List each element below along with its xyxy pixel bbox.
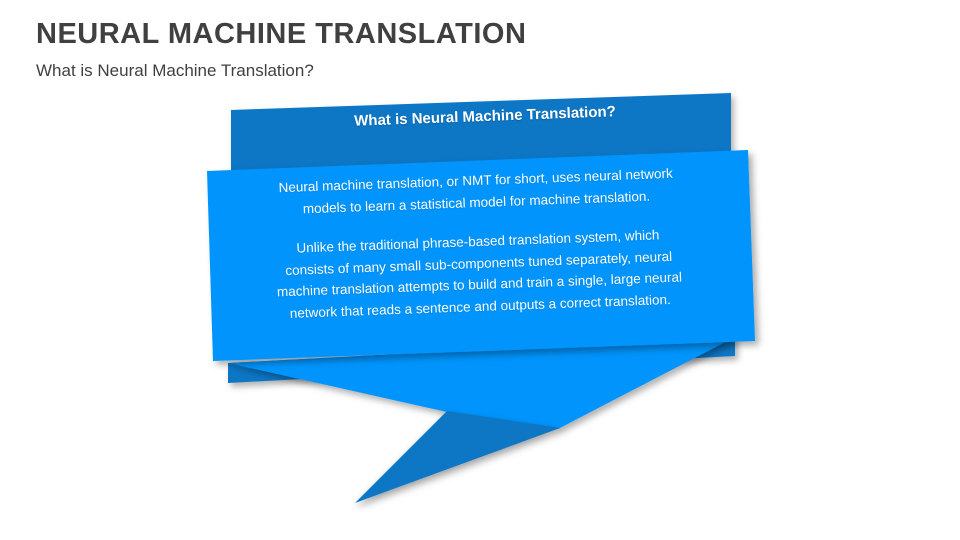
ribbon-graphic (0, 0, 960, 540)
ribbon-tail-point (355, 411, 560, 503)
slide-canvas: NEURAL MACHINE TRANSLATION What is Neura… (0, 0, 960, 540)
content-panel-shape (207, 150, 755, 361)
ribbon-svg (0, 0, 960, 540)
